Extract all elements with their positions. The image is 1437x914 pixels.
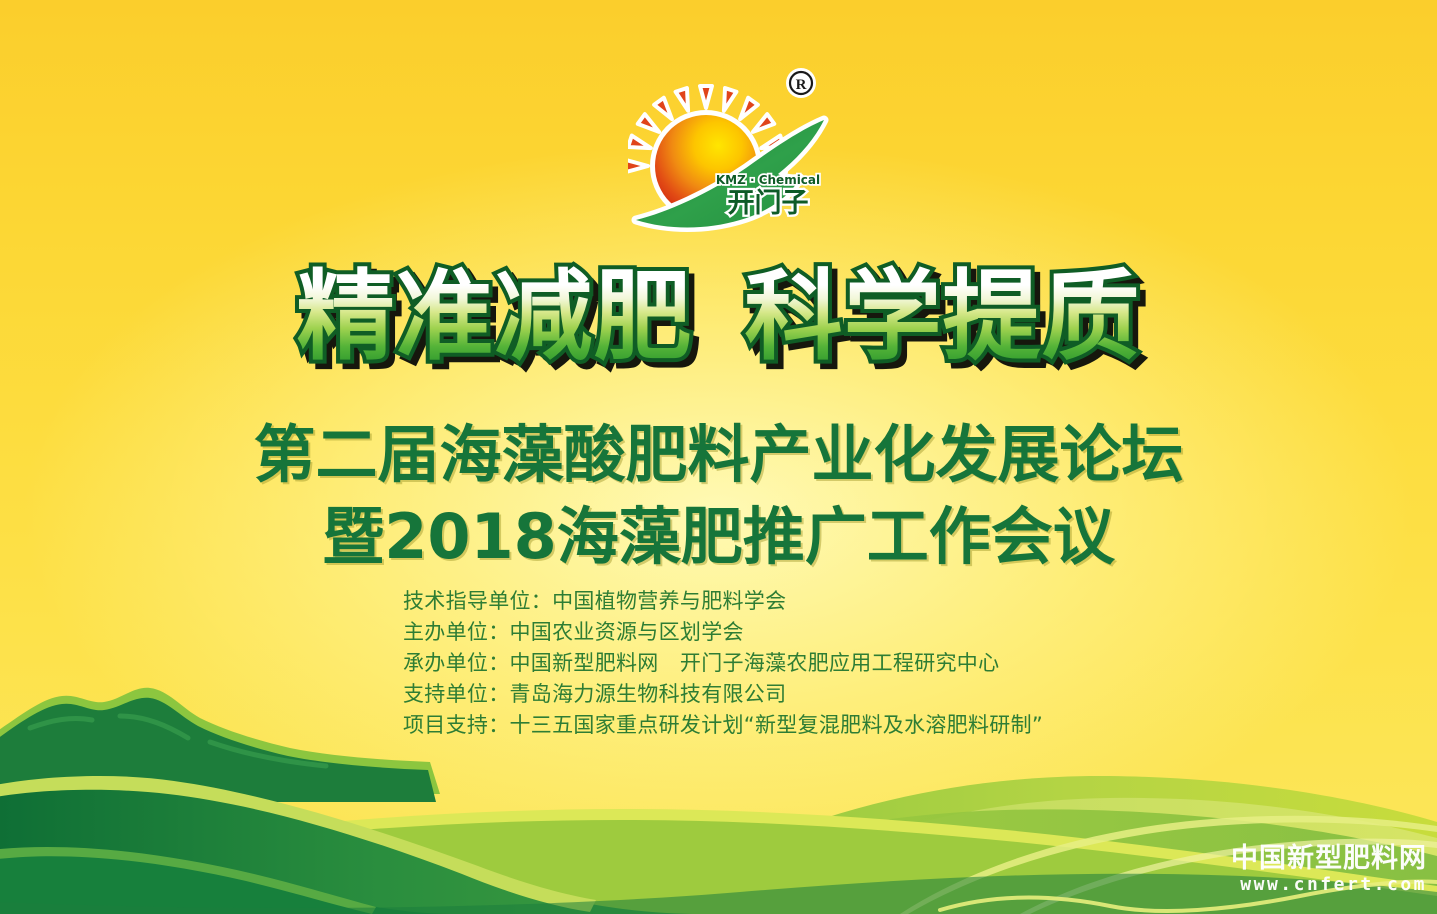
watermark-site-name: 中国新型肥料网	[1231, 844, 1427, 874]
bottom-landscape-illustration	[0, 624, 1437, 914]
registered-trademark-icon: R	[786, 68, 816, 98]
site-watermark: 中国新型肥料网 www.cnfert.com	[1231, 844, 1427, 896]
logo-brand-text: KMZ · Chemical 开门子	[716, 173, 820, 219]
poster-headline: 精准减肥 精准减肥 精准减肥 科学提质 科学提质 科学提质	[0, 268, 1437, 368]
svg-text:R: R	[796, 77, 807, 93]
subtitle-line-1: 第二届海藻酸肥料产业化发展论坛	[0, 404, 1437, 494]
logo-graphic: R KMZ · Chemical 开门子	[628, 62, 838, 242]
headline-part-2-fill: 科学提质	[745, 260, 1141, 374]
logo-brand-cn: 开门子	[728, 188, 809, 219]
poster-canvas: R KMZ · Chemical 开门子 精准减肥 精准减肥 精准减肥 科学提质…	[0, 0, 1437, 914]
headline-part-1: 精准减肥 精准减肥 精准减肥	[296, 268, 692, 368]
logo-brand-en: KMZ · Chemical	[716, 173, 820, 187]
company-logo: R KMZ · Chemical 开门子	[628, 62, 838, 242]
headline-part-2: 科学提质 科学提质 科学提质	[745, 268, 1141, 368]
watermark-url: www.cnfert.com	[1231, 874, 1427, 897]
info-line-technical-guidance: 技术指导单位：中国植物营养与肥料学会	[403, 586, 1123, 617]
subtitle-line-2: 暨2018海藻肥推广工作会议	[0, 486, 1437, 576]
headline-part-1-fill: 精准减肥	[296, 260, 692, 374]
